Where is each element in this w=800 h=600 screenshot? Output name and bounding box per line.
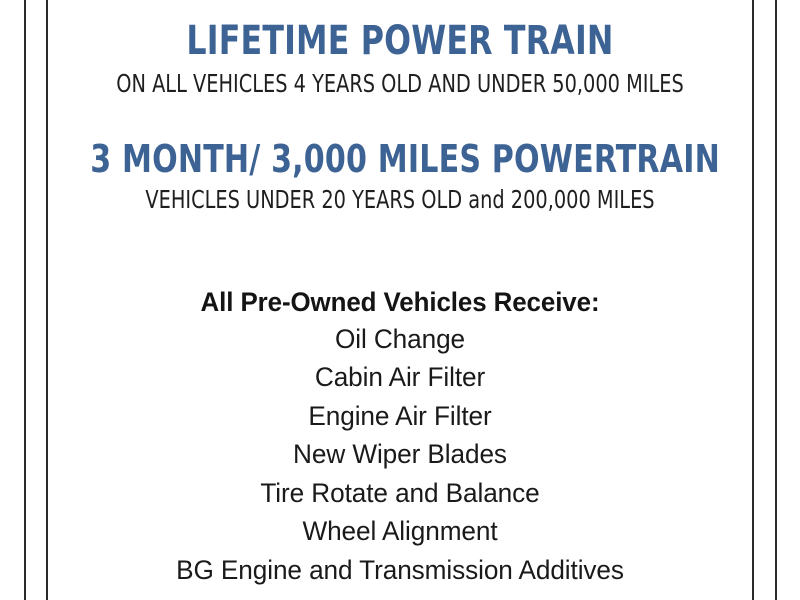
services-section: All Pre-Owned Vehicles Receive: Oil Chan… bbox=[48, 289, 752, 590]
border-rule-outer-right bbox=[775, 0, 777, 600]
service-item: Wheel Alignment bbox=[59, 512, 742, 551]
warranty-subline-3month: VEHICLES UNDER 20 YEARS OLD and 200,000 … bbox=[97, 187, 702, 213]
service-item: Cabin Air Filter bbox=[59, 358, 742, 397]
service-item: Oil Change bbox=[59, 320, 742, 359]
warranty-headline-3month: 3 MONTH/ 3,000 MILES POWERTRAIN bbox=[90, 140, 710, 178]
border-rule-outer-left bbox=[24, 0, 26, 600]
service-item: New Wiper Blades bbox=[59, 435, 742, 474]
flyer-content: LIFETIME POWER TRAIN ON ALL VEHICLES 4 Y… bbox=[48, 0, 752, 600]
warranty-block-3month: 3 MONTH/ 3,000 MILES POWERTRAIN VEHICLES… bbox=[48, 140, 752, 213]
services-list: Oil Change Cabin Air Filter Engine Air F… bbox=[48, 320, 752, 590]
border-rule-inner-right bbox=[752, 0, 754, 600]
service-item: Engine Air Filter bbox=[59, 397, 742, 436]
warranty-block-lifetime: LIFETIME POWER TRAIN ON ALL VEHICLES 4 Y… bbox=[48, 21, 752, 97]
warranty-subline-lifetime: ON ALL VEHICLES 4 YEARS OLD AND UNDER 50… bbox=[97, 71, 702, 97]
warranty-headline-lifetime: LIFETIME POWER TRAIN bbox=[90, 21, 710, 61]
service-item: BG Engine and Transmission Additives bbox=[59, 551, 742, 590]
flyer-page: LIFETIME POWER TRAIN ON ALL VEHICLES 4 Y… bbox=[0, 0, 800, 600]
services-heading: All Pre-Owned Vehicles Receive: bbox=[62, 289, 738, 316]
service-item: Tire Rotate and Balance bbox=[59, 474, 742, 513]
